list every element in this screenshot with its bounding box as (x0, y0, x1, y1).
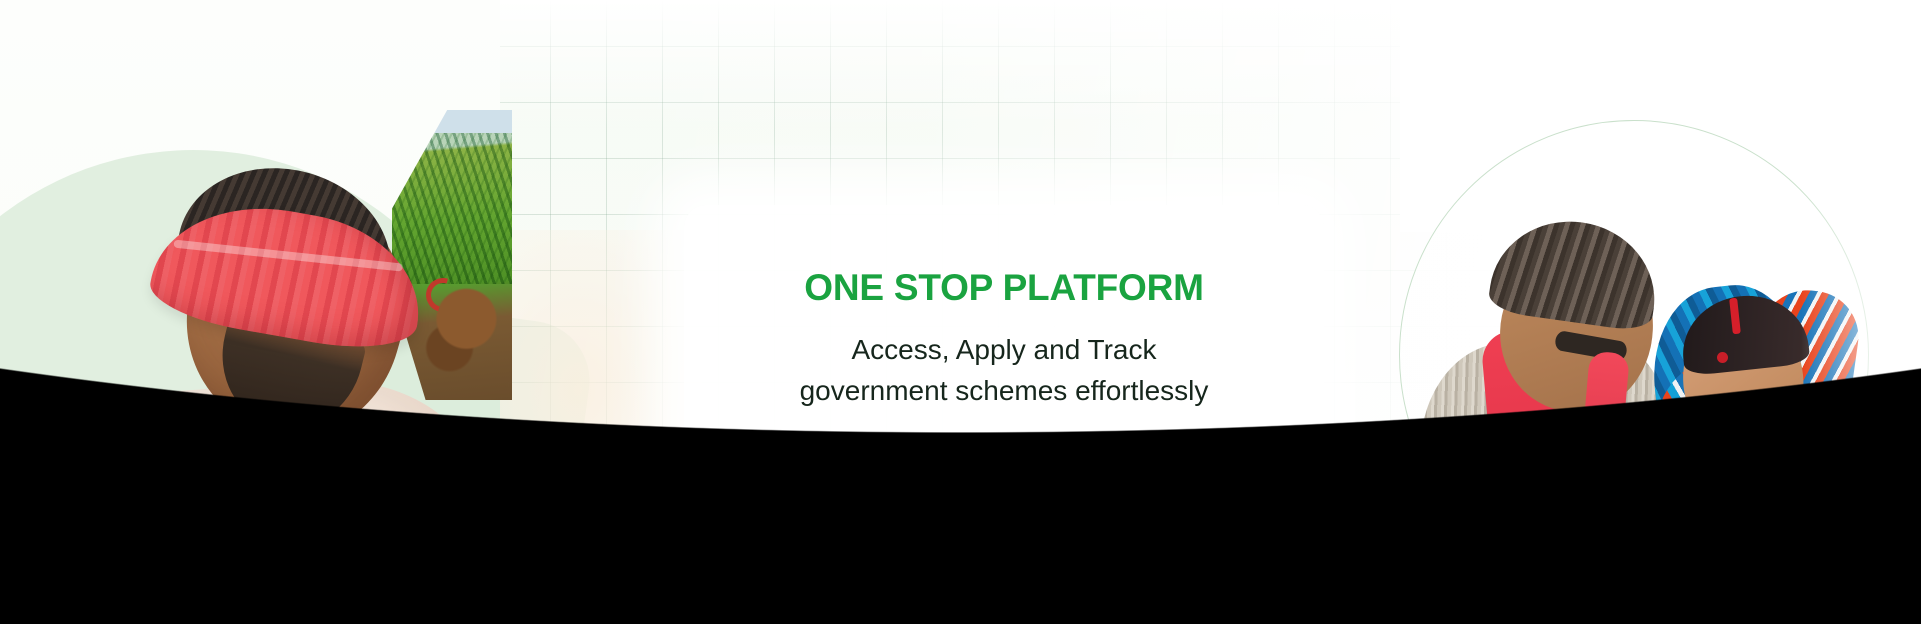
grid-top-fade (500, 0, 1921, 130)
banner-stage: ONE STOP PLATFORM Access, Apply and Trac… (0, 0, 1921, 624)
right-edge-fade (1801, 0, 1921, 624)
hero-subtitle: Access, Apply and Track government schem… (800, 330, 1209, 412)
bottom-edge-fade (0, 564, 1921, 624)
hero-text-card: ONE STOP PLATFORM Access, Apply and Trac… (684, 205, 1324, 475)
diamond-glyph-icon (651, 462, 677, 486)
rural-couple-with-phone-photo (1405, 140, 1865, 610)
woman-bindi (1717, 352, 1728, 363)
farmer-with-phone-photo (20, 120, 540, 624)
hero-banner: ONE STOP PLATFORM Access, Apply and Trac… (0, 0, 1921, 624)
hero-subtitle-line2: government schemes effortlessly (800, 371, 1209, 412)
hero-subtitle-line1: Access, Apply and Track (851, 334, 1156, 365)
page-title: ONE STOP PLATFORM (804, 268, 1204, 309)
